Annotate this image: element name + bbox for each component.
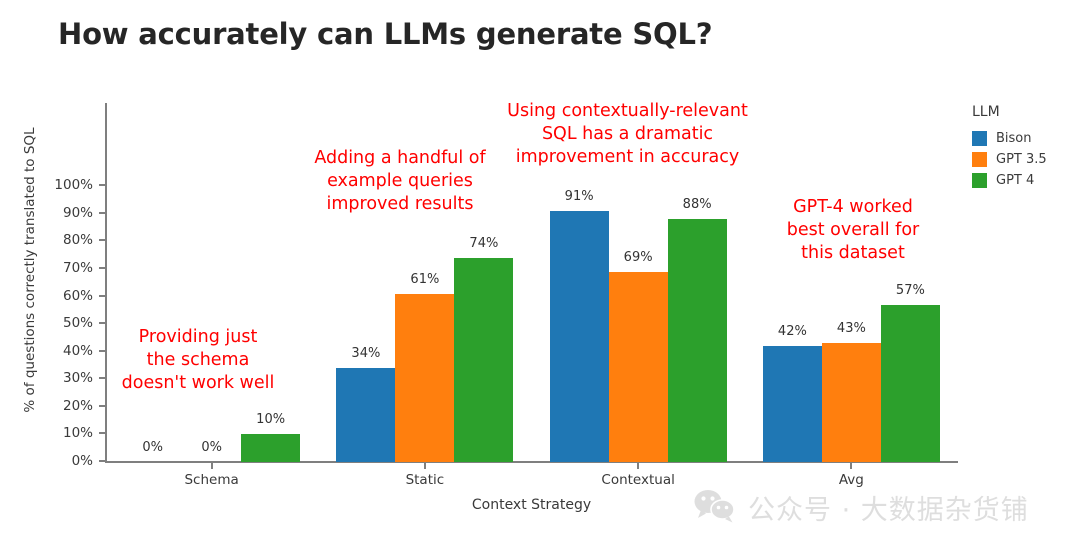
chart-canvas: How accurately can LLMs generate SQL? 0%… — [0, 0, 1080, 544]
y-tick: 30% — [0, 370, 105, 386]
y-tick-label: 60% — [63, 288, 93, 304]
legend-swatch — [972, 131, 987, 146]
y-tick: 60% — [0, 288, 105, 304]
legend-swatch — [972, 152, 987, 167]
annotation-avg: GPT-4 worked best overall for this datas… — [768, 196, 938, 265]
bar-value-label: 91% — [550, 189, 609, 204]
legend-label: Bison — [996, 131, 1032, 146]
bar-static-gpt-3-5[interactable] — [395, 294, 454, 462]
legend-item-gpt-3-5[interactable]: GPT 3.5 — [972, 149, 1047, 170]
bar-value-label: 0% — [123, 440, 182, 455]
y-tick: 40% — [0, 343, 105, 359]
watermark-text: 公众号 · 大数据杂货铺 — [748, 488, 1029, 527]
x-tick-mark — [637, 463, 639, 469]
bar-schema-gpt-4[interactable] — [241, 434, 300, 462]
legend-swatch — [972, 173, 987, 188]
bar-contextual-bison[interactable] — [550, 211, 609, 462]
bar-value-label: 43% — [822, 321, 881, 336]
bar-value-label: 61% — [395, 272, 454, 287]
annotation-contextual: Using contextually-relevant SQL has a dr… — [490, 100, 765, 169]
y-tick: 0% — [0, 453, 105, 469]
y-tick-label: 100% — [54, 177, 93, 193]
y-axis-ticks: 0%10%20%30%40%50%60%70%80%90%100% — [0, 0, 105, 544]
y-tick-label: 90% — [63, 205, 93, 221]
y-tick: 80% — [0, 232, 105, 248]
x-tick-mark — [850, 463, 852, 469]
bar-value-label: 69% — [609, 250, 668, 265]
page-title: How accurately can LLMs generate SQL? — [58, 17, 712, 51]
y-tick: 70% — [0, 260, 105, 276]
legend-item-gpt-4[interactable]: GPT 4 — [972, 170, 1047, 191]
bar-static-gpt-4[interactable] — [454, 258, 513, 462]
bar-static-bison[interactable] — [336, 368, 395, 462]
bar-value-label: 74% — [454, 236, 513, 251]
bar-value-label: 34% — [336, 346, 395, 361]
bar-avg-gpt-4[interactable] — [881, 305, 940, 462]
y-tick-label: 10% — [63, 425, 93, 441]
legend: LLM BisonGPT 3.5GPT 4 — [972, 104, 1047, 191]
legend-label: GPT 3.5 — [996, 152, 1047, 167]
bar-value-label: 57% — [881, 283, 940, 298]
x-tick-mark — [424, 463, 426, 469]
bar-contextual-gpt-3-5[interactable] — [609, 272, 668, 462]
legend-item-bison[interactable]: Bison — [972, 128, 1047, 149]
y-tick-label: 40% — [63, 343, 93, 359]
y-tick-label: 50% — [63, 315, 93, 331]
y-tick-label: 20% — [63, 398, 93, 414]
y-tick: 50% — [0, 315, 105, 331]
bar-value-label: 88% — [668, 197, 727, 212]
x-tick-label: Contextual — [538, 472, 738, 488]
y-tick: 20% — [0, 398, 105, 414]
y-tick-label: 80% — [63, 232, 93, 248]
x-tick-label: Static — [325, 472, 525, 488]
x-tick-label: Avg — [751, 472, 951, 488]
y-tick-label: 70% — [63, 260, 93, 276]
x-tick-label: Schema — [112, 472, 312, 488]
y-tick-label: 0% — [72, 453, 93, 469]
legend-title: LLM — [972, 104, 1047, 120]
legend-label: GPT 4 — [996, 173, 1034, 188]
y-tick: 90% — [0, 205, 105, 221]
bar-avg-bison[interactable] — [763, 346, 822, 462]
bar-avg-gpt-3-5[interactable] — [822, 343, 881, 462]
y-tick: 100% — [0, 177, 105, 193]
x-tick-mark — [211, 463, 213, 469]
y-tick-label: 30% — [63, 370, 93, 386]
annotation-schema: Providing just the schema doesn't work w… — [108, 326, 288, 395]
watermark: 公众号 · 大数据杂货铺 — [694, 488, 1029, 527]
bar-value-label: 42% — [763, 324, 822, 339]
y-axis-title: % of questions correctly translated to S… — [22, 110, 38, 430]
annotation-static: Adding a handful of example queries impr… — [300, 147, 500, 216]
bar-contextual-gpt-4[interactable] — [668, 219, 727, 462]
bar-value-label: 0% — [182, 440, 241, 455]
bar-value-label: 10% — [241, 412, 300, 427]
wechat-icon — [694, 489, 736, 527]
y-tick: 10% — [0, 425, 105, 441]
